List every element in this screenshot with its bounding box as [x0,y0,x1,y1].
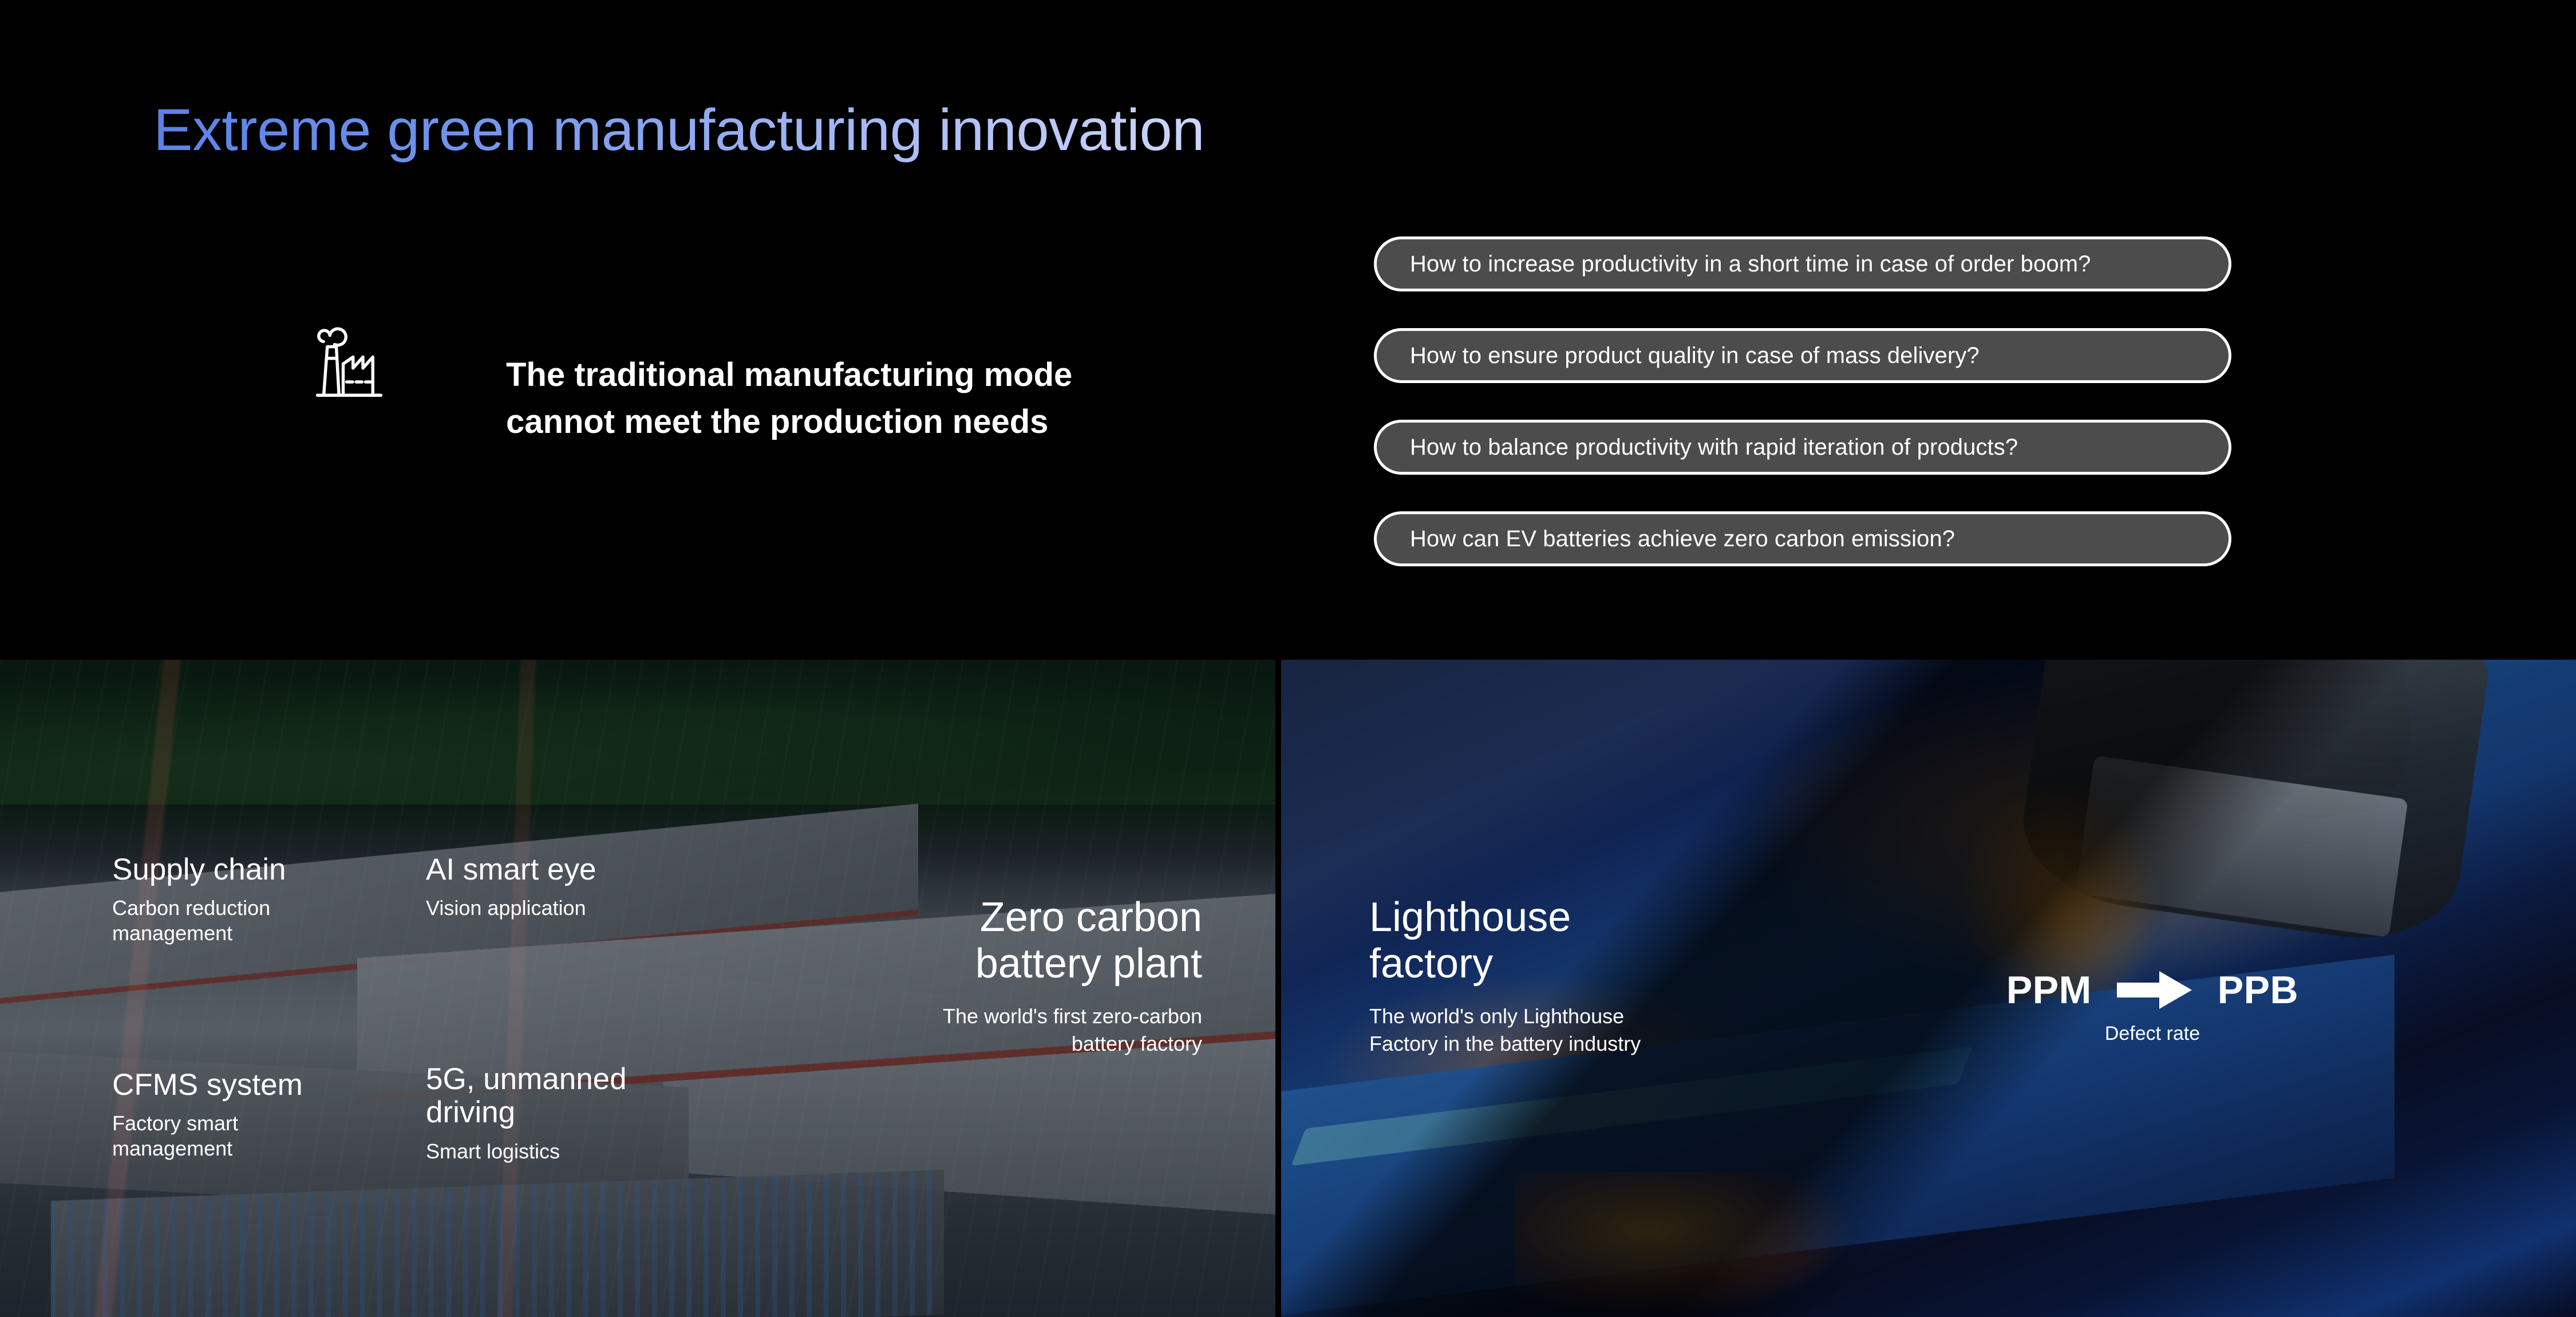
highlight-subtext: The world's only Lighthouse Factory in t… [1369,1003,1850,1058]
feature-heading: Supply chain [112,853,286,886]
feature-heading: CFMS system [112,1068,303,1102]
feature-5g-unmanned-driving: 5G, unmanned driving Smart logistics [426,1063,627,1164]
metric-from: PPM [2006,968,2092,1012]
highlight-zero-carbon-battery-plant: Zero carbon battery plant The world's fi… [693,894,1202,1057]
feature-supply-chain: Supply chain Carbon reduction management [112,853,286,946]
arrow-right-icon [2117,970,2192,1010]
feature-subtext: Carbon reduction management [112,896,286,946]
top-section: Extreme green manufacturing innovation T… [0,0,2576,660]
highlight-subtext: The world's first zero-carbon battery fa… [693,1003,1202,1058]
defect-rate-metric: PPM PPB Defect rate [1935,968,2370,1045]
metric-row: PPM PPB [1935,968,2370,1012]
page-title: Extreme green manufacturing innovation [153,96,1204,164]
traditional-mode-statement: The traditional manufacturing mode canno… [506,352,1307,446]
feature-ai-smart-eye: AI smart eye Vision application [426,853,596,921]
question-pill-4[interactable]: How can EV batteries achieve zero carbon… [1374,511,2231,566]
feature-subtext: Smart logistics [426,1139,627,1164]
highlight-heading: Lighthouse factory [1369,894,1850,988]
panel-divider [1275,660,1281,1317]
slide-root: Extreme green manufacturing innovation T… [0,0,2576,1317]
highlight-heading: Zero carbon battery plant [693,894,1202,988]
feature-heading: 5G, unmanned driving [426,1063,627,1130]
question-list: How to increase productivity in a short … [1374,236,2233,566]
feature-heading: AI smart eye [426,853,596,886]
highlight-lighthouse-factory: Lighthouse factory The world's only Ligh… [1369,894,1850,1057]
question-pill-2[interactable]: How to ensure product quality in case of… [1374,328,2231,383]
question-pill-3[interactable]: How to balance productivity with rapid i… [1374,420,2231,475]
statement-line-2: cannot meet the production needs [506,399,1307,445]
feature-subtext: Factory smart management [112,1111,303,1161]
question-pill-1[interactable]: How to increase productivity in a short … [1374,236,2231,291]
statement-line-1: The traditional manufacturing mode [506,356,1072,393]
feature-subtext: Vision application [426,896,596,921]
feature-cfms-system: CFMS system Factory smart management [112,1068,303,1161]
factory-icon [308,318,394,404]
metric-caption: Defect rate [1935,1023,2370,1045]
metric-to: PPB [2218,968,2298,1012]
